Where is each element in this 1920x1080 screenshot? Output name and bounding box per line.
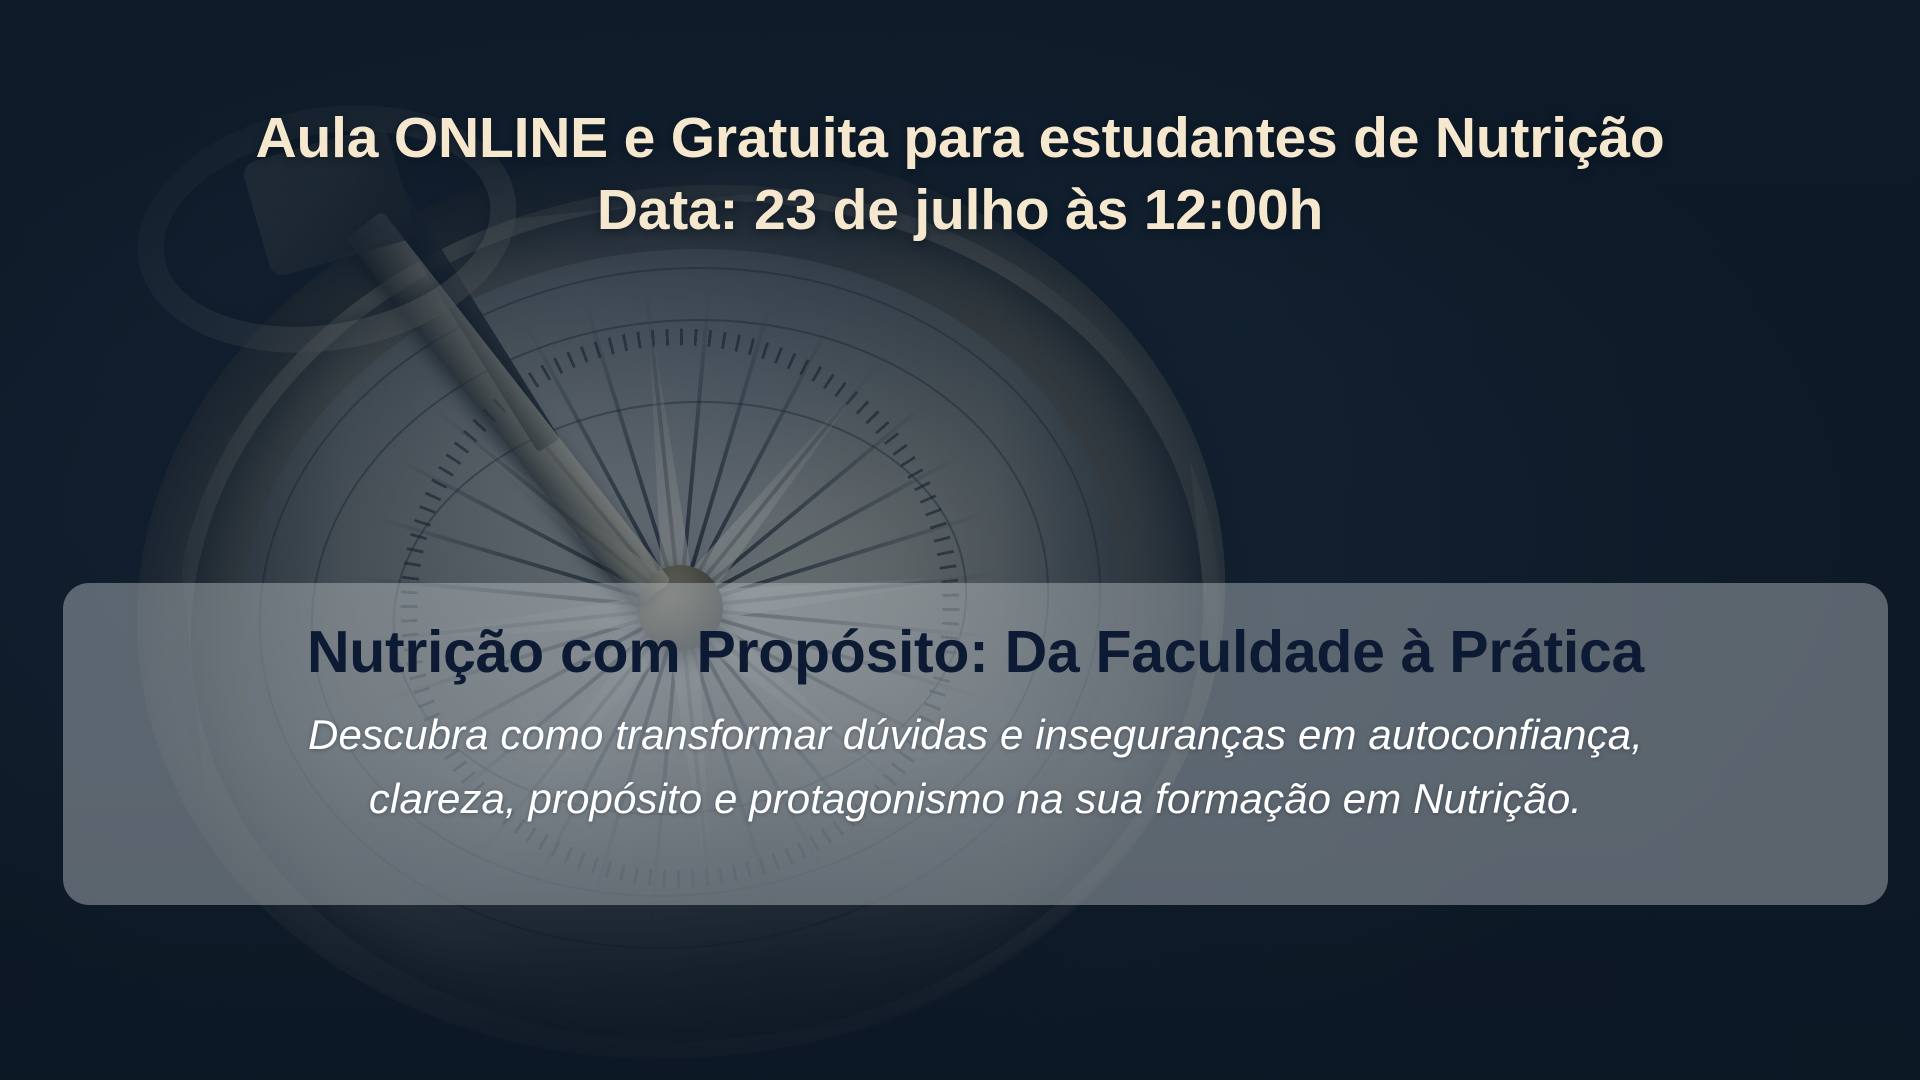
card-title: Nutrição com Propósito: Da Faculdade à P… [109, 619, 1842, 685]
card-subtitle-line-1: Descubra como transformar dúvidas e inse… [109, 703, 1842, 767]
info-card: Nutrição com Propósito: Da Faculdade à P… [63, 583, 1888, 905]
headline-block: Aula ONLINE e Gratuita para estudantes d… [0, 103, 1920, 247]
promo-banner: Aula ONLINE e Gratuita para estudantes d… [0, 0, 1920, 1080]
headline-line-1: Aula ONLINE e Gratuita para estudantes d… [40, 103, 1880, 175]
headline-line-2: Data: 23 de julho às 12:00h [40, 175, 1880, 247]
card-subtitle-line-2: clareza, propósito e protagonismo na sua… [109, 767, 1842, 831]
